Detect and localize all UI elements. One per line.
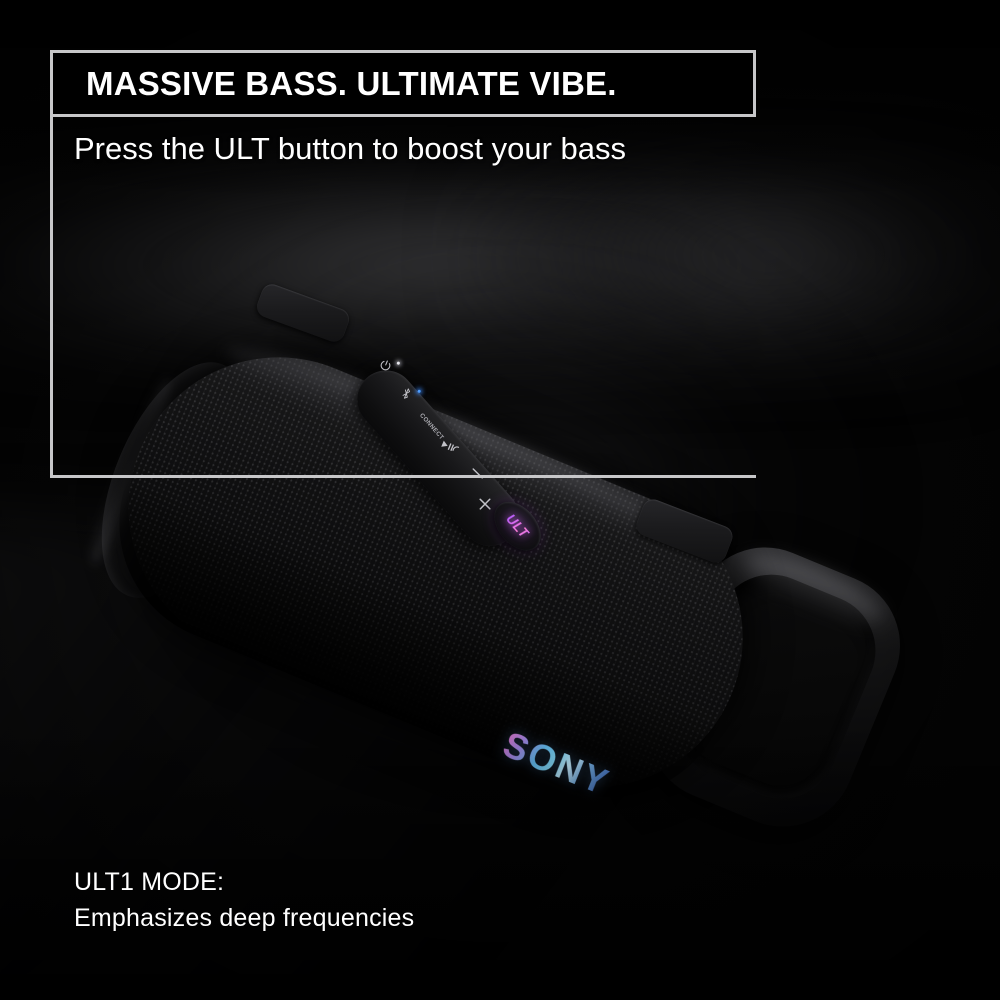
subheadline-text: Press the ULT button to boost your bass	[74, 131, 626, 167]
mode-caption-description: Emphasizes deep frequencies	[74, 904, 414, 933]
headline-box: MASSIVE BASS. ULTIMATE VIBE.	[50, 50, 756, 117]
product-marketing-image: SONY CONNECT	[0, 0, 1000, 1000]
mode-caption: ULT1 MODE: Emphasizes deep frequencies	[74, 868, 414, 933]
headline-text: MASSIVE BASS. ULTIMATE VIBE.	[86, 65, 617, 103]
mode-caption-title: ULT1 MODE:	[74, 868, 414, 897]
